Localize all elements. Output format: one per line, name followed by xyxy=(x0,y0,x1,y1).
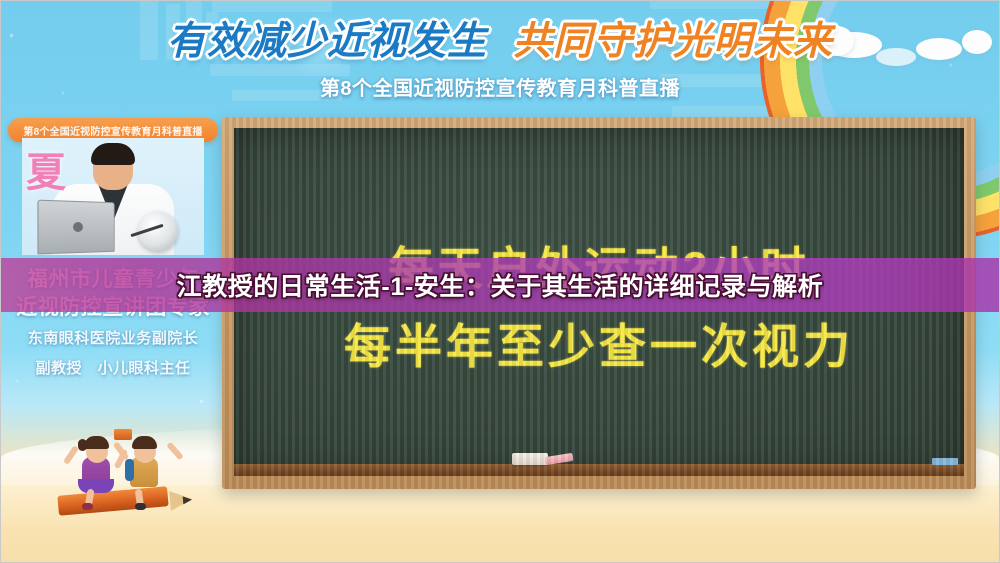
blackboard-ledge xyxy=(234,464,964,476)
banner-title: 有效减少近视发生共同守护光明未来 xyxy=(0,22,1000,63)
speaker-role-line-1: 东南眼科医院业务副院长 xyxy=(0,328,226,351)
banner-header: 有效减少近视发生共同守护光明未来 第8个全国近视防控宣传教育月科普直播 xyxy=(0,22,1000,101)
banner-subtitle: 第8个全国近视防控宣传教育月科普直播 xyxy=(0,72,1000,101)
pencil-lead-icon xyxy=(183,496,193,505)
speaker-badge-label: 第8个全国近视防控宣传教育月科普直播 xyxy=(23,123,202,138)
eye-model-icon xyxy=(138,211,178,251)
speaker-role-line-2: 副教授 小儿眼科主任 xyxy=(0,358,226,381)
banner-title-part-a: 有效减少近视发生 xyxy=(167,20,487,63)
speaker-hair xyxy=(91,143,135,165)
blue-marker-icon xyxy=(932,458,958,465)
overlay-title-text: 江教授的日常生活-1-安生：关于其生活的详细记录与解析 xyxy=(177,267,824,303)
kids-on-pencil-illustration xyxy=(52,421,204,525)
kid-girl xyxy=(74,435,120,505)
eraser-icon xyxy=(512,453,548,465)
overlay-title-band: 江教授的日常生活-1-安生：关于其生活的详细记录与解析 xyxy=(0,258,1000,312)
banner-title-part-b: 共同守护光明未来 xyxy=(513,20,833,63)
video-frame: 有效减少近视发生共同守护光明未来 第8个全国近视防控宣传教育月科普直播 每天户外… xyxy=(0,0,1000,563)
season-watermark: 夏 xyxy=(26,140,66,198)
kid-boy xyxy=(122,435,170,505)
blackboard-line-2: 每半年至少查一次视力 xyxy=(234,308,964,377)
laptop-icon xyxy=(37,200,114,255)
